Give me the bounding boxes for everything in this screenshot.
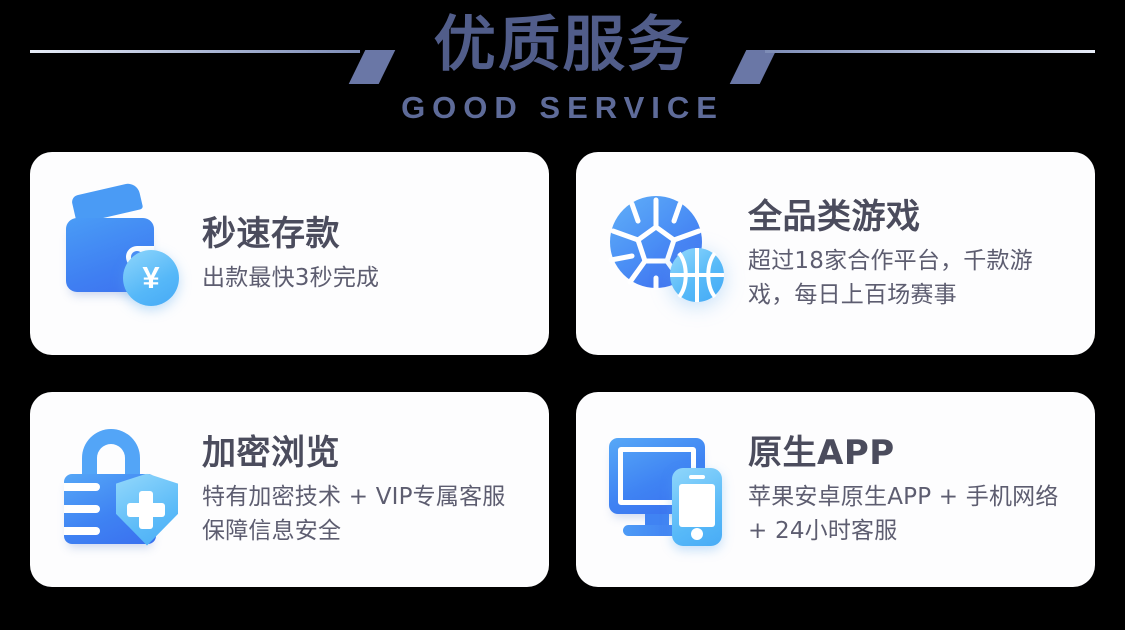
card-description: 苹果安卓原生APP + 手机网络 + 24小时客服	[748, 480, 1071, 548]
soccer-basketball-icon	[606, 190, 734, 318]
wallet-coin-icon: ¥	[60, 190, 188, 318]
card-title: 原生APP	[748, 432, 1071, 474]
card-text-block: 加密浏览 特有加密技术 + VIP专属客服保障信息安全	[202, 432, 525, 548]
phone-home-button-shape	[691, 528, 703, 540]
basketball-icon	[668, 246, 726, 304]
card-title: 秒速存款	[202, 213, 525, 255]
feature-card-instant-deposit[interactable]: ¥ 秒速存款 出款最快3秒完成	[30, 152, 549, 355]
banner-header: 优质服务 GOOD SERVICE	[0, 0, 1125, 150]
card-description: 特有加密技术 + VIP专属客服保障信息安全	[202, 480, 525, 548]
card-text-block: 原生APP 苹果安卓原生APP + 手机网络 + 24小时客服	[748, 432, 1071, 548]
card-text-block: 全品类游戏 超过18家合作平台，千款游戏，每日上百场赛事	[748, 196, 1071, 312]
lock-shield-icon	[60, 426, 188, 554]
page-title: 优质服务	[0, 8, 1125, 82]
feature-card-grid: ¥ 秒速存款 出款最快3秒完成	[30, 152, 1095, 587]
lock-slot-shape	[64, 527, 100, 535]
mobile-phone-icon	[672, 468, 722, 546]
feature-card-encrypted-browsing[interactable]: 加密浏览 特有加密技术 + VIP专属客服保障信息安全	[30, 392, 549, 587]
card-title: 加密浏览	[202, 432, 525, 474]
card-text-block: 秒速存款 出款最快3秒完成	[202, 213, 525, 295]
yen-coin-icon: ¥	[123, 250, 179, 306]
card-title: 全品类游戏	[748, 196, 1071, 238]
feature-card-native-app[interactable]: 原生APP 苹果安卓原生APP + 手机网络 + 24小时客服	[576, 392, 1095, 587]
title-block: 优质服务 GOOD SERVICE	[0, 8, 1125, 126]
promo-banner: 优质服务 GOOD SERVICE ¥ 秒速存款 出款最快3秒完成	[0, 0, 1125, 630]
lock-slot-shape	[64, 483, 100, 491]
feature-card-all-category-games[interactable]: 全品类游戏 超过18家合作平台，千款游戏，每日上百场赛事	[576, 152, 1095, 355]
lock-slot-shape	[64, 505, 100, 513]
card-description: 出款最快3秒完成	[202, 261, 525, 295]
card-description: 超过18家合作平台，千款游戏，每日上百场赛事	[748, 244, 1071, 312]
monitor-phone-icon	[606, 426, 734, 554]
page-subtitle: GOOD SERVICE	[0, 90, 1125, 126]
